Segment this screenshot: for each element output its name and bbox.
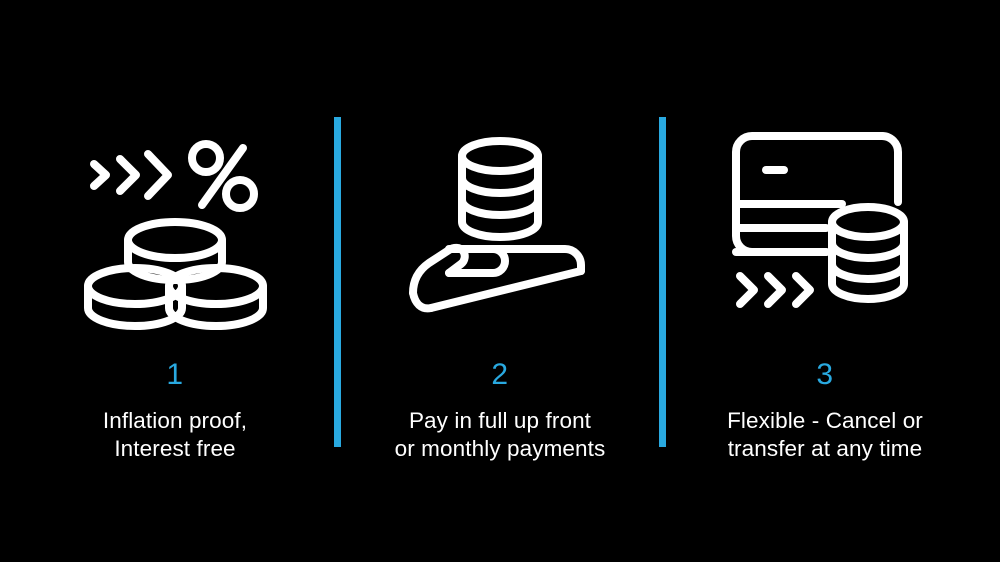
divider-1 <box>334 117 341 447</box>
chevrons-right-icon <box>740 276 810 304</box>
icon-coins-on-hand <box>385 117 615 332</box>
open-hand-icon <box>413 247 581 307</box>
coin-stack-icon <box>832 207 904 299</box>
chevrons-right-icon <box>94 154 168 196</box>
step-number-3: 3 <box>816 360 833 390</box>
divider-2 <box>659 117 666 447</box>
panel-3: 3 Flexible - Cancel or transfer at any t… <box>663 0 988 562</box>
panel-2: 2 Pay in full up front or monthly paymen… <box>338 0 663 562</box>
panel-caption-1: Inflation proof, Interest free <box>103 407 247 463</box>
panel-caption-2: Pay in full up front or monthly payments <box>395 407 606 463</box>
coin-stack-icon <box>462 141 538 237</box>
step-number-1: 1 <box>166 360 183 390</box>
step-number-2: 2 <box>491 360 508 390</box>
icon-credit-card-coins <box>710 117 940 332</box>
panel-caption-3: Flexible - Cancel or transfer at any tim… <box>727 407 923 463</box>
percent-icon <box>192 144 254 208</box>
icon-percent-chevrons-coins <box>60 117 290 332</box>
panel-1: 1 Inflation proof, Interest free <box>13 0 338 562</box>
infographic-slide: 1 Inflation proof, Interest free <box>0 0 1000 562</box>
coin-pile-icon <box>88 222 263 326</box>
